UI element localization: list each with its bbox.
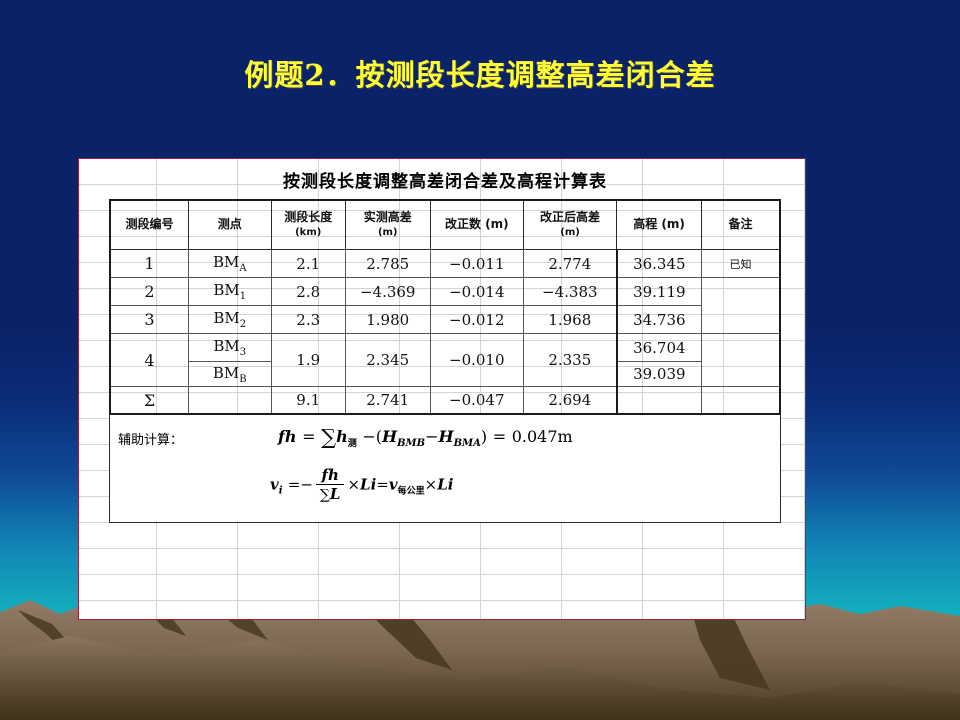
cell-segment-no-2: 2 xyxy=(110,278,188,306)
cell-adjusted-3: 1.968 xyxy=(523,306,616,334)
cell-point-bm-b: BMB xyxy=(188,362,271,387)
slide-canvas: 例题2．按测段长度调整高差闭合差 按测段长度调整高差闭合差及高程计算表 测段编号… xyxy=(0,0,960,720)
page-title: 例题2．按测段长度调整高差闭合差 xyxy=(0,52,960,94)
cell-elevation-bm-a: 36.345 xyxy=(617,250,702,278)
cell-length-1: 2.1 xyxy=(271,250,345,278)
cell-total-length: 9.1 xyxy=(271,387,345,415)
cell-correction-1: −0.011 xyxy=(430,250,523,278)
table-row: 1 BMA 2.1 2.785 −0.011 xyxy=(110,250,780,278)
cell-elevation-bm-b: 39.039 xyxy=(617,362,702,387)
cell-segment-no-1: 1 xyxy=(110,250,188,278)
cell-point-bm-a: BMA xyxy=(188,250,271,278)
column-header-observed-height-diff: 实测高差 (m) xyxy=(345,200,430,250)
cell-remark-blank-2 xyxy=(701,334,780,387)
cell-length-4: 1.9 xyxy=(271,334,345,387)
column-header-adjusted-height-diff: 改正后高差 (m) xyxy=(523,200,616,250)
cell-point-bm-1: BM1 xyxy=(188,278,271,306)
auxiliary-computation-block: 辅助计算： fh = ∑h测 −(HBMB−HBMA) = 0.047m vi … xyxy=(109,415,781,523)
cell-total-point xyxy=(188,387,271,415)
column-header-point: 测点 xyxy=(188,200,271,250)
cell-observed-3: 1.980 xyxy=(345,306,430,334)
cell-total-remark xyxy=(701,387,780,415)
cell-remark-bm-a: 已知 xyxy=(701,250,780,278)
cell-correction-4: −0.010 xyxy=(430,334,523,387)
cell-total-symbol: Σ xyxy=(110,387,188,415)
cell-correction-2: −0.014 xyxy=(430,278,523,306)
cell-segment-no-4: 4 xyxy=(110,334,188,387)
cell-length-3: 2.3 xyxy=(271,306,345,334)
cell-remark-blank-1 xyxy=(701,278,780,334)
cell-elevation-bm-2: 34.736 xyxy=(617,306,702,334)
cell-length-2: 2.8 xyxy=(271,278,345,306)
cell-segment-no-3: 3 xyxy=(110,306,188,334)
cell-total-adjusted: 2.694 xyxy=(523,387,616,415)
calculation-table-wrapper: 按测段长度调整高差闭合差及高程计算表 测段编号 测点 xyxy=(109,166,781,523)
formula-closure-error: fh = ∑h测 −(HBMB−HBMA) = 0.047m xyxy=(278,425,573,449)
cell-elevation-bm-1: 39.119 xyxy=(617,278,702,306)
fraction-fh-over-sum-L: fh∑L xyxy=(316,467,345,504)
cell-total-elevation xyxy=(617,387,702,415)
formula-correction-per-segment: vi =−fh∑L×Li=v每公里×Li xyxy=(270,467,453,504)
cell-adjusted-2: −4.383 xyxy=(523,278,616,306)
column-header-segment-length: 测段长度 (km) xyxy=(271,200,345,250)
column-header-remark: 备注 xyxy=(701,200,780,250)
column-header-elevation: 高程 (m) xyxy=(617,200,702,250)
cell-total-observed: 2.741 xyxy=(345,387,430,415)
cell-point-bm-3: BM3 xyxy=(188,334,271,362)
auxiliary-computation-label: 辅助计算： xyxy=(118,429,183,448)
cell-observed-4: 2.345 xyxy=(345,334,430,387)
cell-elevation-bm-3: 36.704 xyxy=(617,334,702,362)
cell-observed-2: −4.369 xyxy=(345,278,430,306)
table-header-row: 测段编号 测点 测段长度 (km) 实测高差 (m) xyxy=(110,200,780,250)
cell-observed-1: 2.785 xyxy=(345,250,430,278)
table-caption: 按测段长度调整高差闭合差及高程计算表 xyxy=(109,166,781,199)
cell-adjusted-4: 2.335 xyxy=(523,334,616,387)
table-row-total: Σ 9.1 2.741 −0.047 xyxy=(110,387,780,415)
column-header-correction: 改正数 (m) xyxy=(430,200,523,250)
cell-point-bm-2: BM2 xyxy=(188,306,271,334)
height-adjustment-table: 测段编号 测点 测段长度 (km) 实测高差 (m) xyxy=(109,199,781,415)
cell-adjusted-1: 2.774 xyxy=(523,250,616,278)
embedded-spreadsheet-object[interactable]: 按测段长度调整高差闭合差及高程计算表 测段编号 测点 xyxy=(78,158,806,620)
cell-correction-3: −0.012 xyxy=(430,306,523,334)
cell-total-correction: −0.047 xyxy=(430,387,523,415)
column-header-segment-no: 测段编号 xyxy=(110,200,188,250)
